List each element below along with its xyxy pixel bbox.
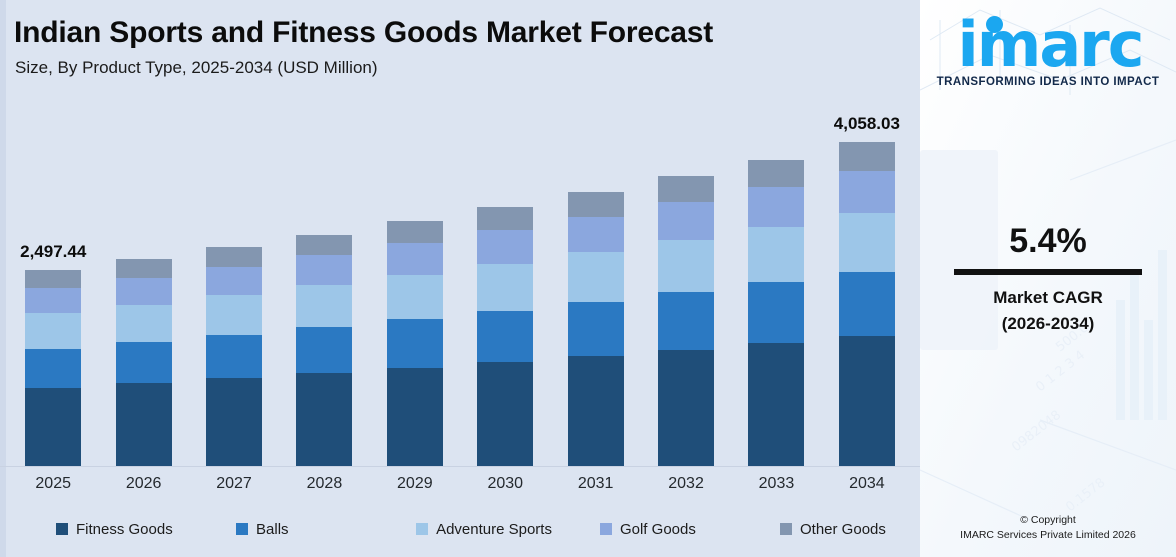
stacked-bar[interactable] [839,142,895,466]
stacked-bar[interactable] [116,259,172,466]
bar-value-label-2025: 2,497.44 [20,242,86,262]
stacked-bar[interactable] [568,192,624,466]
legend-swatch-icon [236,523,248,535]
stacked-bar[interactable] [25,270,81,466]
imarc-dot-icon [986,16,1003,33]
bar-segment-balls[interactable] [25,349,81,388]
legend-label: Other Goods [800,521,886,538]
cagr-value: 5.4% [920,222,1176,261]
chart-screenshot-root: Indian Sports and Fitness Goods Market F… [0,0,1176,557]
x-axis-tick-2030: 2030 [460,470,550,498]
stacked-bar[interactable] [206,247,262,466]
bar-segment-fitness-goods[interactable] [296,373,352,466]
copyright-line-2: IMARC Services Private Limited 2026 [920,528,1176,543]
bar-segment-adventure-sports[interactable] [387,275,443,319]
bar-segment-other-goods[interactable] [658,176,714,202]
legend-swatch-icon [780,523,792,535]
legend-swatch-icon [600,523,612,535]
bar-segment-golf-goods[interactable] [658,202,714,240]
legend-label: Fitness Goods [76,521,173,538]
bar-segment-adventure-sports[interactable] [206,295,262,334]
stacked-bar-group: 2,497.444,058.03 [8,96,912,466]
bar-segment-balls[interactable] [116,342,172,383]
imarc-tagline: TRANSFORMING IDEAS INTO IMPACT [920,76,1176,88]
bar-segment-balls[interactable] [658,292,714,350]
bar-column-2032 [641,96,731,466]
stacked-bar[interactable] [387,221,443,466]
x-axis-tick-2031: 2031 [550,470,640,498]
bar-segment-adventure-sports[interactable] [25,313,81,348]
x-axis-tick-2032: 2032 [641,470,731,498]
bar-segment-fitness-goods[interactable] [568,356,624,466]
legend-item-golf-goods[interactable]: Golf Goods [552,521,732,538]
stacked-bar[interactable] [477,207,533,466]
stacked-bar[interactable] [296,235,352,467]
cagr-period: (2026-2034) [920,311,1176,337]
page-title: Indian Sports and Fitness Goods Market F… [14,16,713,50]
chart-panel: Indian Sports and Fitness Goods Market F… [0,0,920,557]
bar-value-label-2034: 4,058.03 [834,114,900,134]
bar-column-2027 [189,96,279,466]
bar-column-2030 [460,96,550,466]
bar-segment-fitness-goods[interactable] [748,343,804,466]
chart-legend: Fitness GoodsBallsAdventure SportsGolf G… [8,512,912,546]
legend-item-other-goods[interactable]: Other Goods [732,521,912,538]
bar-segment-golf-goods[interactable] [206,267,262,295]
bar-segment-fitness-goods[interactable] [387,368,443,466]
bar-column-2034: 4,058.03 [822,96,912,466]
bar-segment-fitness-goods[interactable] [839,336,895,466]
bar-column-2033 [731,96,821,466]
bar-segment-adventure-sports[interactable] [296,285,352,327]
bar-segment-balls[interactable] [387,319,443,368]
copyright-line-1: © Copyright [920,513,1176,528]
bar-column-2029 [370,96,460,466]
bar-segment-golf-goods[interactable] [568,217,624,253]
x-axis-tick-2029: 2029 [370,470,460,498]
bar-segment-adventure-sports[interactable] [748,227,804,282]
bar-segment-other-goods[interactable] [206,247,262,267]
bar-segment-adventure-sports[interactable] [477,264,533,311]
bar-segment-golf-goods[interactable] [477,230,533,264]
x-axis-tick-2025: 2025 [8,470,98,498]
copyright-notice: © Copyright IMARC Services Private Limit… [920,513,1176,543]
bar-segment-other-goods[interactable] [477,207,533,230]
bar-column-2025: 2,497.44 [8,96,98,466]
bar-segment-balls[interactable] [206,335,262,379]
bar-segment-adventure-sports[interactable] [658,240,714,292]
legend-label: Golf Goods [620,521,696,538]
bar-segment-other-goods[interactable] [296,235,352,256]
bar-segment-other-goods[interactable] [387,221,443,243]
x-axis-labels: 2025202620272028202920302031203220332034 [8,470,912,498]
bar-column-2026 [98,96,188,466]
bar-segment-golf-goods[interactable] [296,255,352,285]
x-axis-tick-2028: 2028 [279,470,369,498]
x-axis-tick-2034: 2034 [822,470,912,498]
page-subtitle: Size, By Product Type, 2025-2034 (USD Mi… [15,58,378,78]
bar-segment-fitness-goods[interactable] [116,383,172,466]
bar-segment-balls[interactable] [296,327,352,373]
bar-segment-adventure-sports[interactable] [839,213,895,271]
imarc-logo: imarc TRANSFORMING IDEAS INTO IMPACT [920,8,1176,88]
bar-segment-golf-goods[interactable] [387,243,443,275]
bar-segment-fitness-goods[interactable] [658,350,714,466]
x-axis-tick-2026: 2026 [98,470,188,498]
bar-segment-adventure-sports[interactable] [568,252,624,301]
bar-segment-balls[interactable] [568,302,624,357]
bar-segment-other-goods[interactable] [748,160,804,188]
bar-segment-other-goods[interactable] [568,192,624,217]
legend-label: Adventure Sports [436,521,552,538]
cagr-divider [954,269,1142,275]
bar-segment-adventure-sports[interactable] [116,305,172,342]
bar-segment-fitness-goods[interactable] [477,362,533,466]
bar-segment-golf-goods[interactable] [25,288,81,313]
bar-column-2028 [279,96,369,466]
bar-column-2031 [550,96,640,466]
stacked-bar[interactable] [748,160,804,466]
cagr-label: Market CAGR [920,285,1176,311]
bar-segment-fitness-goods[interactable] [25,388,81,466]
bar-segment-fitness-goods[interactable] [206,378,262,466]
legend-swatch-icon [56,523,68,535]
bar-segment-balls[interactable] [748,282,804,343]
legend-label: Balls [256,521,289,538]
bar-segment-other-goods[interactable] [25,270,81,288]
cagr-callout: 5.4% Market CAGR (2026-2034) [920,222,1176,337]
legend-item-adventure-sports[interactable]: Adventure Sports [368,521,552,538]
bar-segment-other-goods[interactable] [116,259,172,278]
x-axis-tick-2027: 2027 [189,470,279,498]
legend-item-balls[interactable]: Balls [188,521,368,538]
bar-segment-balls[interactable] [839,272,895,337]
x-axis-line [0,466,920,467]
brand-panel: 500.0 0 1 2 3 4 0982048 0.1578 imarc TRA… [920,0,1176,557]
x-axis-tick-2033: 2033 [731,470,821,498]
bar-segment-other-goods[interactable] [839,142,895,171]
bar-segment-balls[interactable] [477,311,533,363]
bar-segment-golf-goods[interactable] [748,187,804,227]
bar-segment-golf-goods[interactable] [116,278,172,305]
bar-segment-golf-goods[interactable] [839,171,895,213]
stacked-bar[interactable] [658,176,714,466]
imarc-logo-text: imarc [920,8,1176,82]
legend-item-fitness-goods[interactable]: Fitness Goods [8,521,188,538]
legend-swatch-icon [416,523,428,535]
